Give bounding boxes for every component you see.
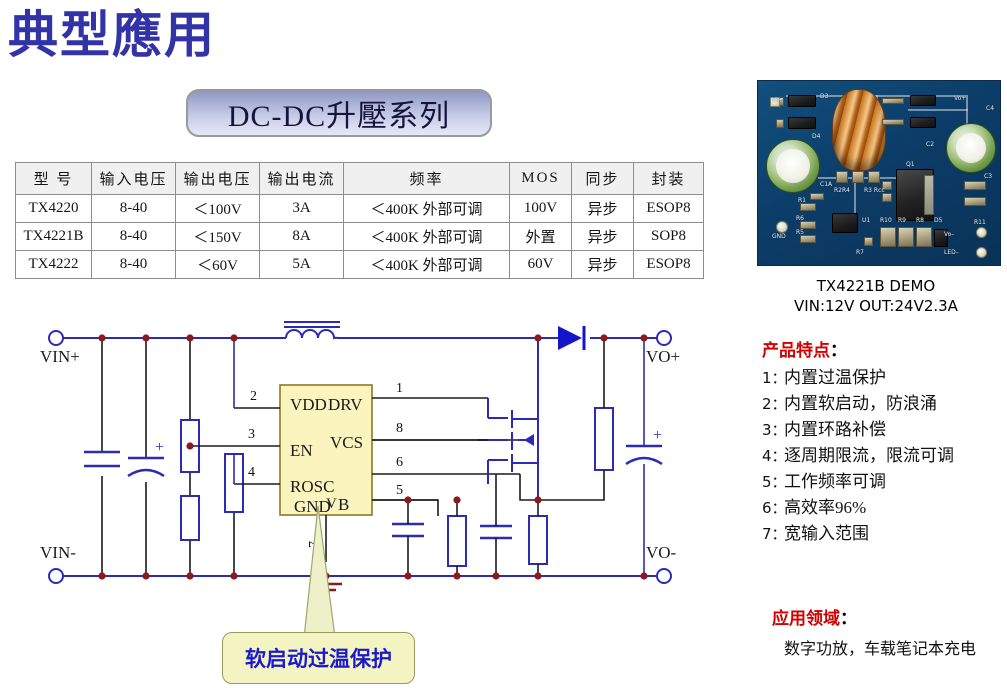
features-heading-colon: ： bbox=[830, 341, 847, 361]
cell-sync: 异步 bbox=[572, 251, 634, 279]
feature-text: 宽输入范围 bbox=[784, 521, 869, 547]
pcb-silk-r7: R7 bbox=[856, 249, 864, 256]
pcb-silk-r9: R9 bbox=[898, 217, 906, 224]
capacitor-vcs bbox=[480, 526, 512, 538]
terminal-label-vo-minus: VO- bbox=[646, 543, 677, 562]
demo-board-photo: Vi+ D3 D4 Vo+ C4 C2 Q1 C1A R2R4 R3 Rcc R… bbox=[757, 80, 1001, 266]
feature-text: 工作频率可调 bbox=[784, 469, 886, 495]
cell-mos: 外置 bbox=[510, 223, 572, 251]
applications-heading-text: 应用领域 bbox=[772, 609, 840, 629]
svg-text:+: + bbox=[155, 439, 164, 456]
inductor-L1 bbox=[280, 322, 340, 338]
cell-mos: 60V bbox=[510, 251, 572, 279]
ic-pin-label-rosc: ROSC bbox=[290, 477, 334, 496]
pcb-silk-d3: D3 bbox=[820, 93, 828, 100]
ic-pin-label-vdd: VDD bbox=[290, 395, 327, 414]
pin-number-2: 2 bbox=[250, 389, 257, 404]
column-header-model: 型 号 bbox=[16, 163, 92, 195]
table-row: TX4220 8-40 ＜100V 3A ＜400K 外部可调 100V 异步 … bbox=[16, 195, 704, 223]
ic-pin-label-en: EN bbox=[290, 441, 313, 460]
pcb-silk-r1: R1 bbox=[798, 197, 806, 204]
pcb-silk-c4: C4 bbox=[986, 105, 994, 112]
cell-iout: 8A bbox=[260, 223, 344, 251]
callout-softstart-thermal: 软启动过温保护 bbox=[222, 632, 415, 684]
resistor-rcs bbox=[529, 516, 547, 564]
feature-number: 6： bbox=[762, 495, 784, 521]
cell-freq: ＜400K 外部可调 bbox=[344, 195, 510, 223]
feature-item: 4： 逐周期限流，限流可调 bbox=[762, 443, 1007, 469]
pcb-silk-r3: R3 Rcc bbox=[864, 187, 885, 194]
ic-pin-label-drv: DRV bbox=[328, 395, 363, 414]
pcb-silk-d4: D4 bbox=[812, 133, 820, 140]
pcb-silk-r6: R6 bbox=[796, 215, 804, 222]
feature-item: 5： 工作频率可调 bbox=[762, 469, 1007, 495]
feature-text: 高效率96% bbox=[784, 495, 866, 521]
mosfet-body-arrow bbox=[524, 434, 534, 446]
cell-model: TX4220 bbox=[16, 195, 92, 223]
cell-model: TX4222 bbox=[16, 251, 92, 279]
feature-text: 内置过温保护 bbox=[784, 365, 886, 391]
table-row: TX4222 8-40 ＜60V 5A ＜400K 外部可调 60V 异步 ES… bbox=[16, 251, 704, 279]
terminal-label-vin-plus: VIN+ bbox=[40, 347, 80, 366]
feature-number: 3： bbox=[762, 417, 784, 443]
page-title: 典型應用 bbox=[8, 4, 216, 66]
feature-item: 1： 内置过温保护 bbox=[762, 365, 1007, 391]
features-heading: 产品特点： bbox=[762, 336, 1007, 361]
pcb-silk-r8: R8 bbox=[916, 217, 924, 224]
table-header-row: 型 号 输入电压 输出电压 输出电流 频率 MOS 同步 封装 bbox=[16, 163, 704, 195]
pin-number-8: 8 bbox=[396, 421, 403, 436]
ic-pin-label-vb: B bbox=[338, 495, 349, 514]
applications-section: 应用领域： 数字功放，车载笔记本充电 bbox=[772, 604, 1007, 659]
demo-caption-line2: VIN:12V OUT:24V2.3A bbox=[745, 296, 1007, 316]
capacitor-C1 bbox=[84, 452, 120, 466]
features-heading-text: 产品特点 bbox=[762, 341, 830, 361]
cell-freq: ＜400K 外部可调 bbox=[344, 251, 510, 279]
feature-text: 内置环路补偿 bbox=[784, 417, 886, 443]
pcb-silk-r2r4: R2R4 bbox=[834, 187, 850, 194]
pcb-silk-d5: D5 bbox=[934, 217, 942, 224]
feature-number: 1： bbox=[762, 365, 784, 391]
feature-number: 2： bbox=[762, 391, 784, 417]
applications-heading-colon: ： bbox=[840, 609, 857, 629]
feature-text: 逐周期限流，限流可调 bbox=[784, 443, 954, 469]
resistor-feedback bbox=[595, 408, 613, 470]
svg-text:+: + bbox=[653, 427, 662, 444]
resistor-rvcs bbox=[448, 516, 466, 566]
terminal-label-vo-plus: VO+ bbox=[646, 347, 680, 366]
applications-text: 数字功放，车载笔记本充电 bbox=[784, 635, 1007, 659]
applications-heading: 应用领域： bbox=[772, 604, 1007, 629]
column-header-vout: 输出电压 bbox=[176, 163, 260, 195]
capacitor-comp bbox=[392, 524, 424, 536]
cell-vout: ＜150V bbox=[176, 223, 260, 251]
pin-number-6: 6 bbox=[396, 455, 403, 470]
cell-iout: 3A bbox=[260, 195, 344, 223]
pcb-silk-gnd: GND bbox=[772, 233, 786, 240]
cell-vin: 8-40 bbox=[92, 195, 176, 223]
diode-d1 bbox=[542, 326, 584, 350]
column-header-sync: 同步 bbox=[572, 163, 634, 195]
cell-model: TX4221B bbox=[16, 223, 92, 251]
cell-package: SOP8 bbox=[634, 223, 704, 251]
cell-freq: ＜400K 外部可调 bbox=[344, 223, 510, 251]
pin-number-1: 1 bbox=[396, 381, 403, 396]
terminal-label-vin-minus: VIN- bbox=[40, 543, 76, 562]
cell-vout: ＜100V bbox=[176, 195, 260, 223]
column-header-mos: MOS bbox=[510, 163, 572, 195]
feature-number: 5： bbox=[762, 469, 784, 495]
feature-item: 3： 内置环路补偿 bbox=[762, 417, 1007, 443]
column-header-package: 封装 bbox=[634, 163, 704, 195]
features-section: 产品特点： 1： 内置过温保护 2： 内置软启动，防浪涌 3： 内置环路补偿 4… bbox=[762, 336, 1007, 547]
cell-sync: 异步 bbox=[572, 223, 634, 251]
pcb-silk-c2: C2 bbox=[926, 141, 934, 148]
pcb-silk-vout: Vo+ bbox=[954, 95, 966, 102]
ic-pin-label-v: V bbox=[326, 496, 337, 512]
pin-number-3: 3 bbox=[248, 427, 255, 442]
cell-vin: 8-40 bbox=[92, 251, 176, 279]
pcb-silk-vin: Vi+ bbox=[772, 97, 783, 104]
pcb-silk-c3: C3 bbox=[984, 173, 992, 180]
demo-caption-line1: TX4221B DEMO bbox=[745, 276, 1007, 296]
cell-mos: 100V bbox=[510, 195, 572, 223]
column-header-vin: 输入电压 bbox=[92, 163, 176, 195]
pin-number-4: 4 bbox=[248, 465, 255, 480]
pcb-silk-led: LED– bbox=[944, 249, 959, 256]
feature-number: 4： bbox=[762, 443, 784, 469]
pin-number-5: 5 bbox=[396, 483, 403, 498]
callout-label: 软启动过温保护 bbox=[245, 643, 392, 673]
cell-vout: ＜60V bbox=[176, 251, 260, 279]
ic-pin-label-vcs: VCS bbox=[330, 433, 363, 452]
table-row: TX4221B 8-40 ＜150V 8A ＜400K 外部可调 外置 异步 S… bbox=[16, 223, 704, 251]
pcb-silk-q1: Q1 bbox=[906, 161, 915, 168]
pcb-silk-r10: R10 bbox=[880, 217, 892, 224]
pcb-silk-vo-: Vo– bbox=[944, 231, 954, 238]
pcb-silk-r11: R11 bbox=[974, 219, 986, 226]
cell-package: ESOP8 bbox=[634, 195, 704, 223]
pcb-silk-u1: U1 bbox=[862, 217, 870, 224]
cell-vin: 8-40 bbox=[92, 223, 176, 251]
feature-item: 6： 高效率96% bbox=[762, 495, 1007, 521]
cell-iout: 5A bbox=[260, 251, 344, 279]
feature-text: 内置软启动，防浪涌 bbox=[784, 391, 937, 417]
column-header-freq: 频率 bbox=[344, 163, 510, 195]
series-badge-label: DC-DC升壓系列 bbox=[228, 91, 450, 135]
column-header-iout: 输出电流 bbox=[260, 163, 344, 195]
feature-number: 7： bbox=[762, 521, 784, 547]
spec-table: 型 号 输入电压 输出电压 输出电流 频率 MOS 同步 封装 TX4220 8… bbox=[15, 162, 704, 279]
mosfet-q1 bbox=[478, 338, 538, 500]
resistor-R2 bbox=[181, 496, 199, 540]
pcb-silk-c1a: C1A bbox=[820, 181, 832, 188]
feature-item: 2： 内置软启动，防浪涌 bbox=[762, 391, 1007, 417]
cell-package: ESOP8 bbox=[634, 251, 704, 279]
demo-board-caption: TX4221B DEMO VIN:12V OUT:24V2.3A bbox=[745, 276, 1007, 316]
series-badge: DC-DC升壓系列 bbox=[186, 89, 492, 137]
feature-item: 7： 宽输入范围 bbox=[762, 521, 1007, 547]
pcb-silk-r5: R5 bbox=[796, 229, 804, 236]
cell-sync: 异步 bbox=[572, 195, 634, 223]
